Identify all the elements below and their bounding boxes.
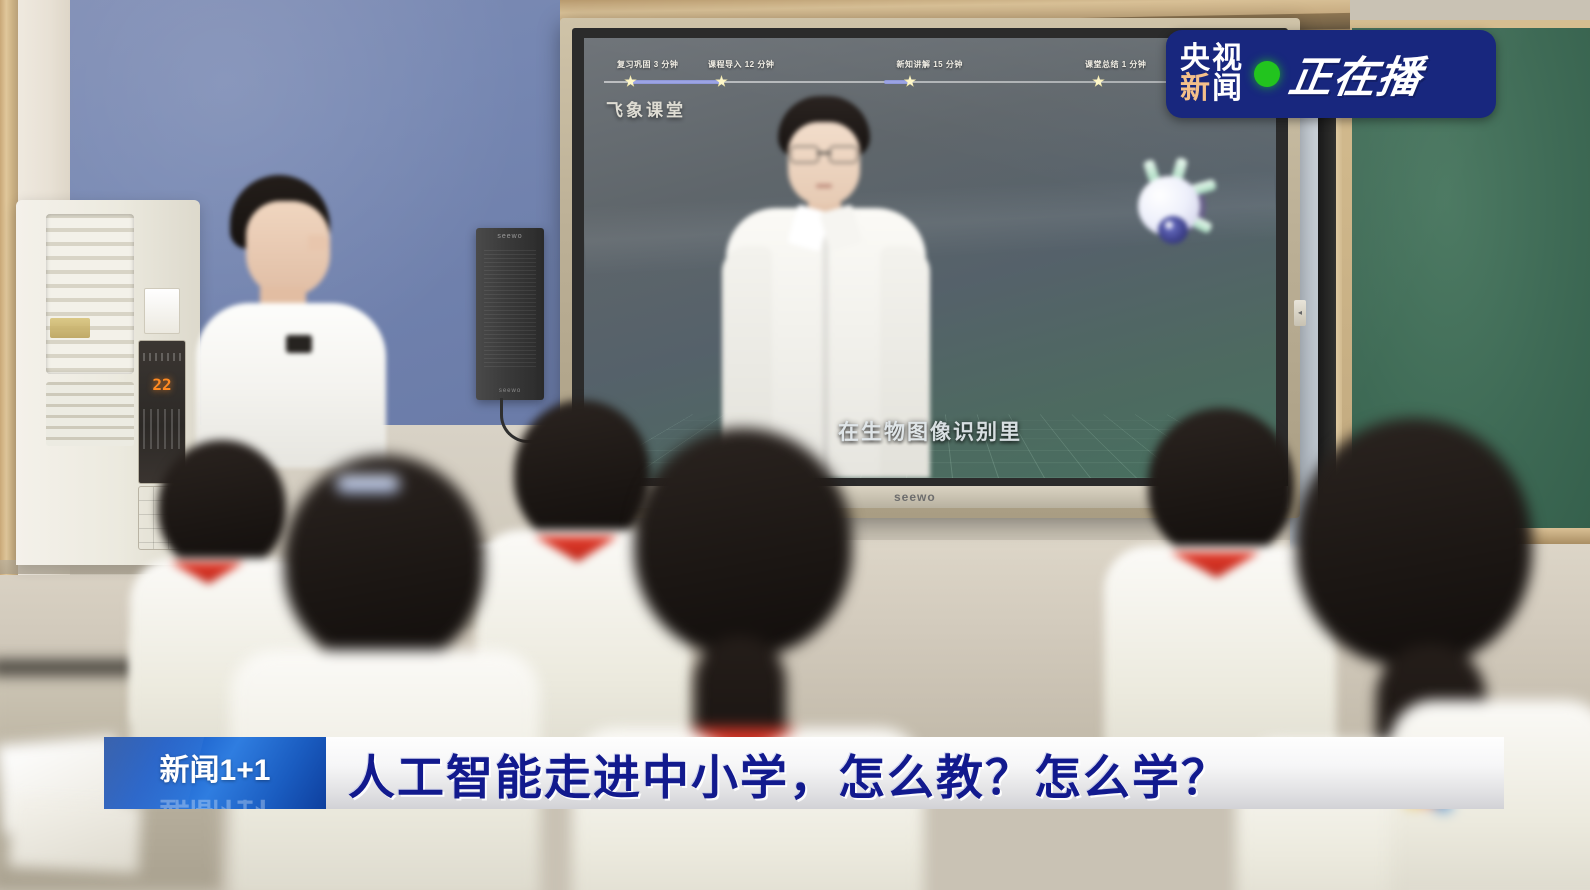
student bbox=[598, 428, 898, 890]
program-name: 新闻1+1 bbox=[104, 745, 326, 789]
program-name-block: 新闻1+1 新闻1+1 bbox=[104, 737, 326, 809]
live-badge: 央视 新闻 正在播 bbox=[1166, 30, 1496, 118]
live-indicator-dot bbox=[1254, 61, 1280, 87]
broadcast-frame: 22 seewo seewo 复习巩固 3 分钟 bbox=[0, 0, 1590, 890]
timeline-label-1: 课程导入 12 分钟 bbox=[708, 59, 774, 70]
speaker-brand-bottom: seewo bbox=[476, 388, 544, 394]
ac-panel-topbar bbox=[143, 353, 181, 361]
course-brand-label: 飞象课堂 bbox=[606, 96, 686, 121]
headline-block: 人工智能走进中小学，怎么教？怎么学？ bbox=[326, 737, 1504, 809]
teacher-nose bbox=[308, 235, 330, 251]
student-head bbox=[1296, 418, 1532, 666]
cctv-logo-char-white: 闻 bbox=[1212, 72, 1244, 105]
ac-temperature-display: 22 bbox=[139, 375, 185, 394]
mascot-eye bbox=[1158, 216, 1188, 244]
speaker-brand-top: seewo bbox=[476, 233, 544, 240]
timeline-label-0: 复习巩固 3 分钟 bbox=[617, 59, 678, 70]
lapel-microphone bbox=[286, 335, 312, 353]
ac-badge bbox=[50, 318, 90, 338]
mascot-body bbox=[1138, 176, 1200, 236]
student bbox=[250, 455, 520, 890]
lesson-timeline[interactable]: 复习巩固 3 分钟 课程导入 12 分钟 新知讲解 15 分钟 课堂总结 1 分… bbox=[604, 64, 1254, 90]
cctv-news-logo: 央视 新闻 bbox=[1180, 44, 1244, 104]
smartboard-brand-logo: seewo bbox=[894, 490, 936, 504]
wall-speaker: seewo seewo bbox=[476, 228, 544, 400]
smartboard-side-button[interactable]: ◂ bbox=[1294, 300, 1306, 326]
robot-mascot-icon bbox=[1124, 156, 1220, 252]
teacher bbox=[190, 175, 420, 465]
speaker-mesh bbox=[484, 250, 536, 370]
cctv-logo-line2: 新闻 bbox=[1180, 74, 1244, 104]
ac-grille-upper bbox=[46, 214, 134, 374]
headline-text: 人工智能走进中小学，怎么教？怎么学？ bbox=[326, 739, 1230, 808]
presenter-face bbox=[788, 122, 860, 206]
ac-grille-lower bbox=[46, 382, 134, 446]
glasses-icon bbox=[790, 146, 858, 161]
ac-sticker bbox=[144, 288, 180, 334]
timeline-label-2: 新知讲解 15 分钟 bbox=[897, 59, 963, 70]
presenter-mouth bbox=[816, 184, 832, 188]
hair-clip bbox=[336, 475, 400, 493]
lower-third-banner: 新闻1+1 新闻1+1 人工智能走进中小学，怎么教？怎么学？ bbox=[104, 737, 1504, 809]
timeline-segment bbox=[630, 80, 721, 84]
timeline-label-3: 课堂总结 1 分钟 bbox=[1085, 59, 1146, 70]
student-head bbox=[634, 428, 852, 656]
cctv-logo-char-orange: 新 bbox=[1180, 72, 1212, 105]
live-now-playing-label: 正在播 bbox=[1285, 43, 1427, 105]
cctv-logo-line1: 央视 bbox=[1180, 44, 1244, 74]
